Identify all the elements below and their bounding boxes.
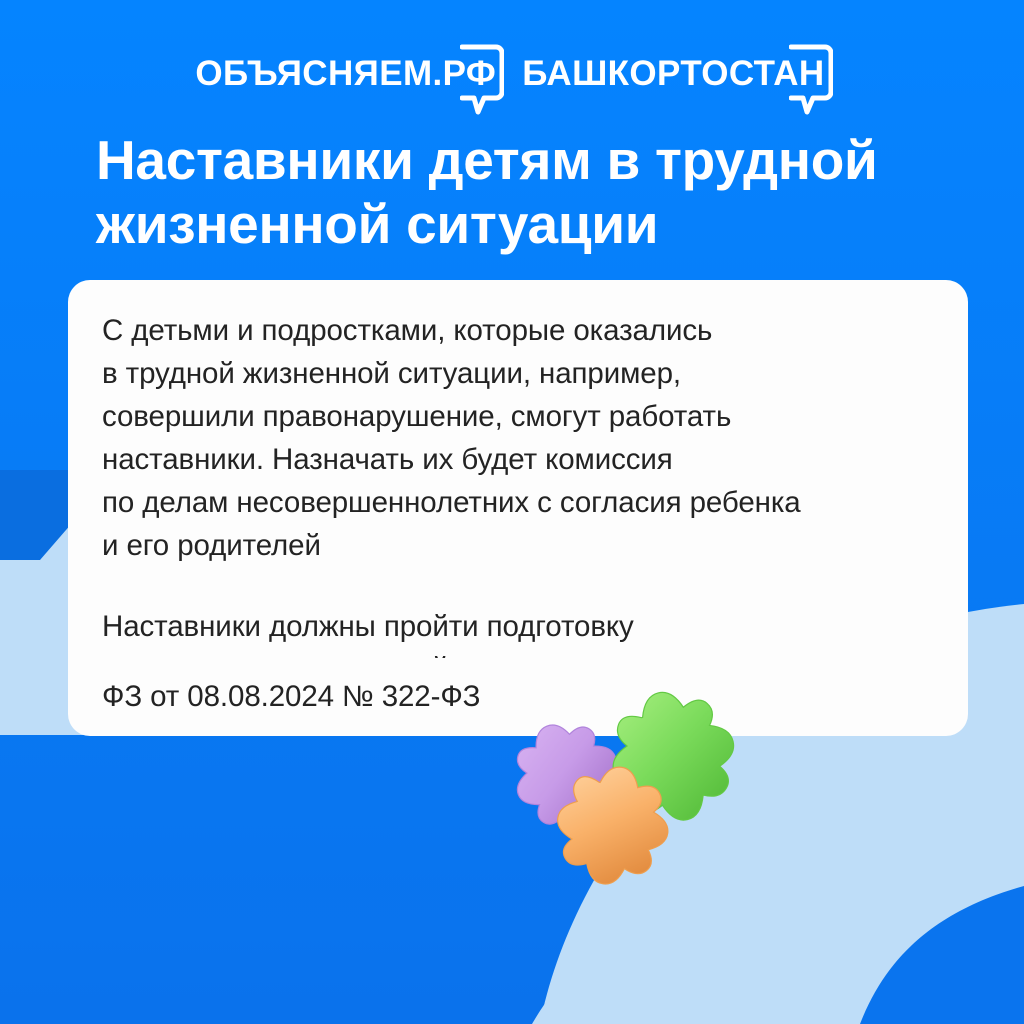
page-title: Наставники детям в трудной жизненной сит… [96,128,976,257]
puzzle-pieces-illustration [505,688,765,893]
body-paragraph-1: С детьми и подростками, которые оказалис… [102,310,934,568]
poster-canvas: ОБЪЯСНЯЕМ.РФ БАШКОРТОСТАН Наставники дет… [0,0,1024,1024]
brand-logo-region-text: БАШКОРТОСТАН [522,56,828,91]
law-reference-text: ФЗ от 08.08.2024 № 322-ФЗ [102,679,480,714]
brand-logo-primary: ОБЪЯСНЯЕМ.РФ [195,56,500,91]
brand-logo-primary-text: ОБЪЯСНЯЕМ.РФ [195,56,500,91]
speech-bubble-bracket-icon [460,44,504,116]
brand-logo-row: ОБЪЯСНЯЕМ.РФ БАШКОРТОСТАН [0,56,1024,91]
main-content-card: С детьми и подростками, которые оказалис… [68,280,968,719]
brand-logo-region: БАШКОРТОСТАН [522,56,828,91]
speech-bubble-bracket-icon [789,44,833,116]
